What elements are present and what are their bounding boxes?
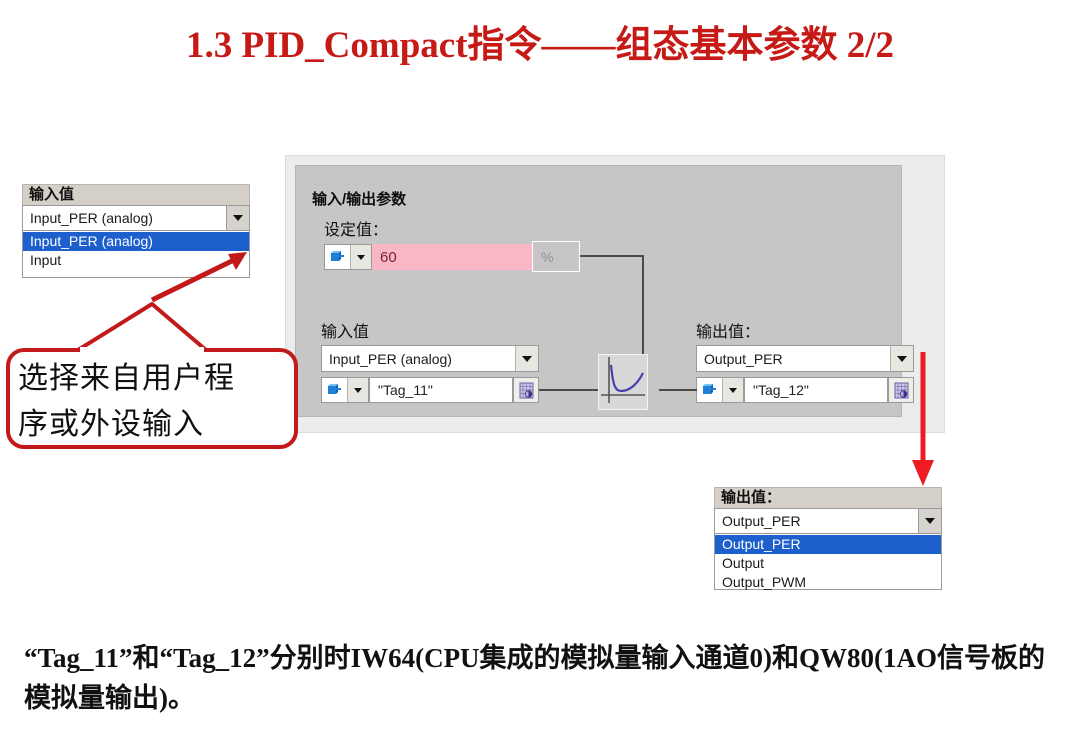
output-value-combo-text: Output_PER bbox=[715, 513, 918, 529]
output-tag-source-selector[interactable] bbox=[696, 377, 744, 403]
pid-curve-icon bbox=[598, 354, 648, 410]
chevron-down-icon[interactable] bbox=[226, 206, 249, 230]
output-value-combo[interactable]: Output_PER bbox=[714, 508, 942, 534]
wire-setpoint-vertical bbox=[642, 255, 644, 365]
input-tag-source-selector[interactable] bbox=[321, 377, 369, 403]
list-item[interactable]: Output bbox=[715, 554, 941, 573]
output-mode-combo[interactable]: Output_PER bbox=[696, 345, 914, 372]
chevron-down-icon[interactable] bbox=[347, 378, 368, 402]
output-value-label: 输出值： bbox=[696, 318, 760, 342]
plug-connector-icon bbox=[322, 383, 347, 397]
output-tag-field[interactable]: "Tag_12" bbox=[744, 377, 888, 403]
plug-connector-icon bbox=[697, 383, 722, 397]
tag-table-icon[interactable] bbox=[888, 377, 914, 403]
input-mode-combo[interactable]: Input_PER (analog) bbox=[321, 345, 539, 372]
input-tag-field[interactable]: "Tag_11" bbox=[369, 377, 513, 403]
output-value-option-list[interactable]: Output_PER Output Output_PWM bbox=[714, 534, 942, 590]
wire-controller-to-output bbox=[659, 389, 697, 391]
chevron-down-icon[interactable] bbox=[515, 346, 538, 371]
list-item[interactable]: Output_PER bbox=[715, 535, 941, 554]
chevron-down-icon[interactable] bbox=[722, 378, 743, 402]
input-value-option-list[interactable]: Input_PER (analog) Input bbox=[22, 231, 250, 278]
setpoint-label: 设定值： bbox=[324, 216, 388, 240]
chevron-down-icon[interactable] bbox=[918, 509, 941, 533]
setpoint-unit-field: % bbox=[532, 241, 580, 272]
annotation-callout-line2: 序或外设输入 bbox=[18, 402, 294, 448]
setpoint-value-field[interactable]: 60 bbox=[372, 244, 532, 270]
list-item[interactable]: Input_PER (analog) bbox=[23, 232, 249, 251]
group-title-io-parameters: 输入/输出参数 bbox=[312, 188, 406, 209]
setpoint-source-selector[interactable] bbox=[324, 244, 372, 270]
input-value-combo[interactable]: Input_PER (analog) bbox=[22, 205, 250, 231]
chevron-down-icon[interactable] bbox=[350, 245, 371, 269]
input-value-label: 输入值 bbox=[321, 318, 369, 342]
slide-caption: “Tag_11”和“Tag_12”分别时IW64(CPU集成的模拟量输入通道0)… bbox=[24, 638, 1064, 718]
wire-setpoint-horizontal bbox=[580, 255, 644, 257]
input-value-combo-text: Input_PER (analog) bbox=[23, 210, 226, 226]
plug-connector-icon bbox=[325, 250, 350, 264]
list-item[interactable]: Output_PWM bbox=[715, 573, 941, 592]
tag-table-icon[interactable] bbox=[513, 377, 539, 403]
input-mode-combo-text: Input_PER (analog) bbox=[322, 351, 515, 367]
page-title: 1.3 PID_Compact指令——组态基本参数 2/2 bbox=[0, 14, 1080, 68]
output-mode-combo-text: Output_PER bbox=[697, 351, 890, 367]
annotation-callout-line1: 选择来自用户程 bbox=[18, 356, 294, 402]
output-dropdown-header: 输出值： bbox=[714, 487, 942, 508]
input-dropdown-header: 输入值 bbox=[22, 184, 250, 205]
annotation-callout-text: 选择来自用户程 序或外设输入 bbox=[18, 356, 294, 448]
chevron-down-icon[interactable] bbox=[890, 346, 913, 371]
list-item[interactable]: Input bbox=[23, 251, 249, 270]
